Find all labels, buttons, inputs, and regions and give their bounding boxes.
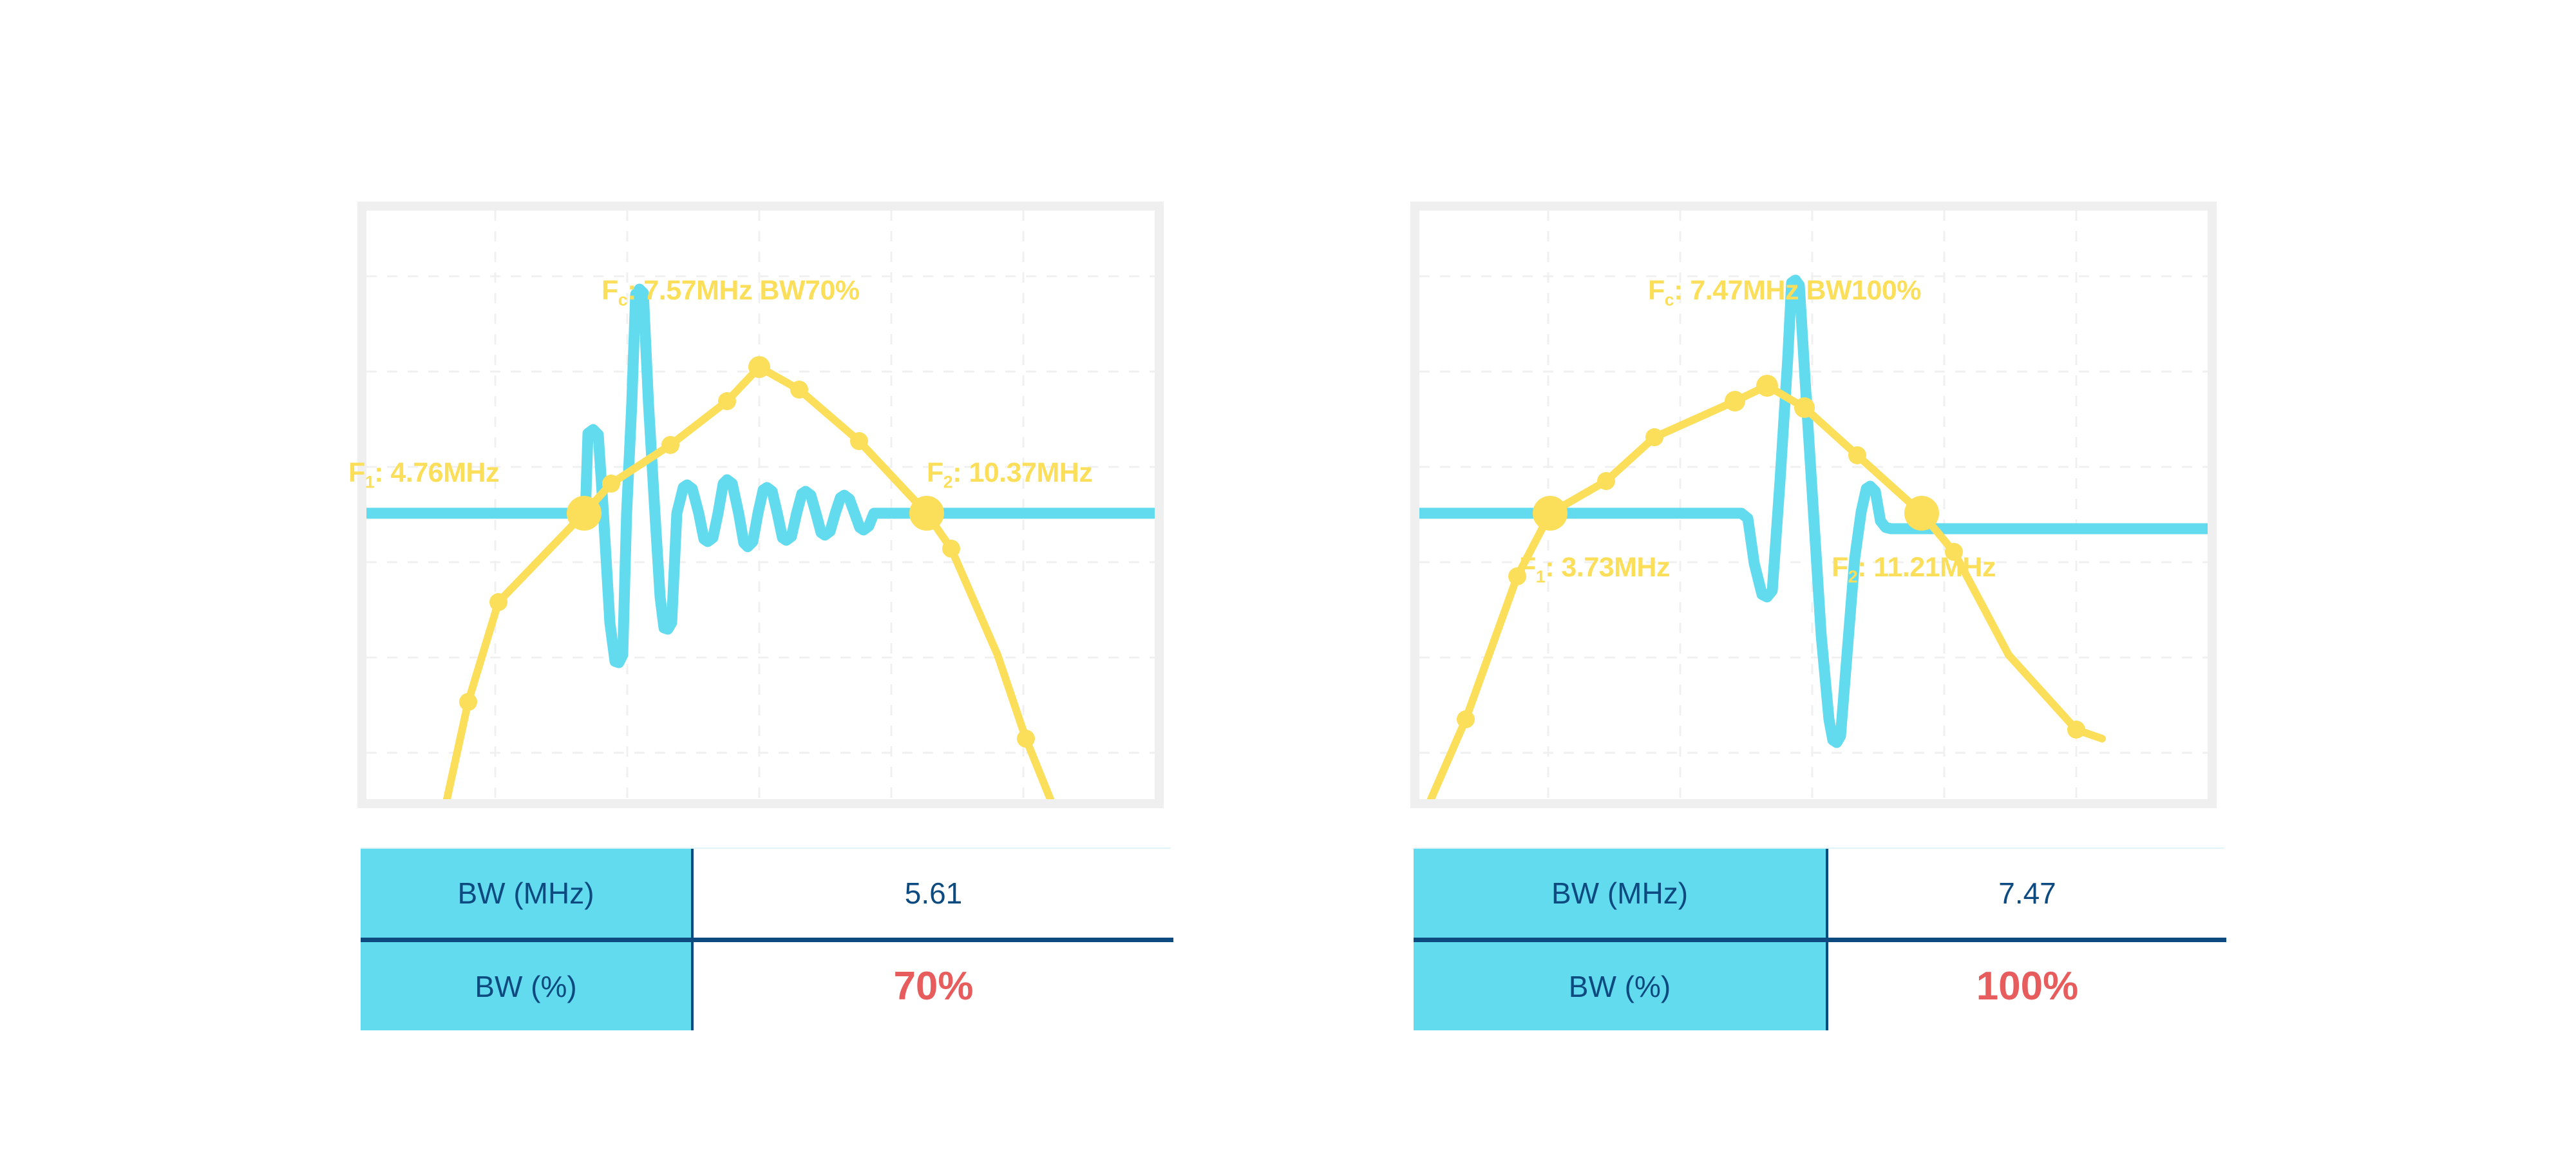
table-right-row1-label: BW (%) — [1414, 940, 1827, 1031]
table-left-row1-label: BW (%) — [361, 940, 692, 1031]
table-row: BW (MHz) 5.61 — [361, 849, 1173, 940]
panel-left: Fc: 7.57MHz BW70% F1: 4.76MHz F2: 10.37M… — [357, 202, 1164, 1045]
annotation-f1-right: F1: 3.73MHz — [1519, 552, 1670, 587]
table-right-row0-label: BW (MHz) — [1414, 849, 1827, 940]
annotation-f1-left-text: : 4.76MHz — [374, 457, 499, 488]
table-left-row1-value: 70% — [692, 940, 1173, 1031]
annotation-fc-left-sub: c — [618, 290, 627, 309]
table-left: BW (MHz) 5.61 BW (%) 70% — [361, 849, 1173, 1030]
table-row: BW (MHz) 7.47 — [1414, 849, 2226, 940]
annotation-fc-right-prefix: F — [1648, 275, 1665, 306]
table-right-row1-value: 100% — [1827, 940, 2226, 1031]
annotation-f2-left-prefix: F — [927, 457, 943, 488]
annotation-f2-right-sub: 2 — [1848, 567, 1857, 586]
table-right-row0-value: 7.47 — [1827, 849, 2226, 940]
annotation-f2-left-text: : 10.37MHz — [952, 457, 1092, 488]
table-right: BW (MHz) 7.47 BW (%) 100% — [1414, 849, 2226, 1030]
annotation-f2-left-sub: 2 — [943, 472, 952, 491]
annotation-fc-left: Fc: 7.57MHz BW70% — [601, 275, 860, 310]
annotation-f1-right-prefix: F — [1519, 552, 1536, 583]
annotation-f1-left-prefix: F — [348, 457, 365, 488]
annotation-f2-left: F2: 10.37MHz — [927, 457, 1092, 492]
annotation-fc-right: Fc: 7.47MHz BW100% — [1648, 275, 1921, 310]
panel-right: Fc: 7.47MHz BW100% F1: 3.73MHz F2: 11.21… — [1410, 202, 2217, 1045]
table-row: BW (%) 100% — [1414, 940, 2226, 1031]
annotation-f1-left: F1: 4.76MHz — [348, 457, 499, 492]
annotation-f1-right-sub: 1 — [1536, 567, 1545, 586]
chart-left: Fc: 7.57MHz BW70% F1: 4.76MHz F2: 10.37M… — [357, 202, 1164, 808]
annotation-fc-right-sub: c — [1665, 290, 1674, 309]
annotation-f1-left-sub: 1 — [365, 472, 374, 491]
annotation-fc-right-text: : 7.47MHz BW100% — [1674, 275, 1921, 306]
table-left-row0-value: 5.61 — [692, 849, 1173, 940]
annotation-f1-right-text: : 3.73MHz — [1545, 552, 1670, 583]
annotation-fc-left-text: : 7.57MHz BW70% — [627, 275, 859, 306]
annotation-f2-right-prefix: F — [1832, 552, 1848, 583]
table-left-row0-label: BW (MHz) — [361, 849, 692, 940]
annotation-fc-left-prefix: F — [601, 275, 618, 306]
table-row: BW (%) 70% — [361, 940, 1173, 1031]
annotation-f2-right: F2: 11.21MHz — [1832, 552, 1996, 587]
spectrum-curve-left — [447, 367, 1050, 799]
annotation-f2-right-text: : 11.21MHz — [1857, 552, 1996, 583]
chart-right: Fc: 7.47MHz BW100% F1: 3.73MHz F2: 11.21… — [1410, 202, 2217, 808]
